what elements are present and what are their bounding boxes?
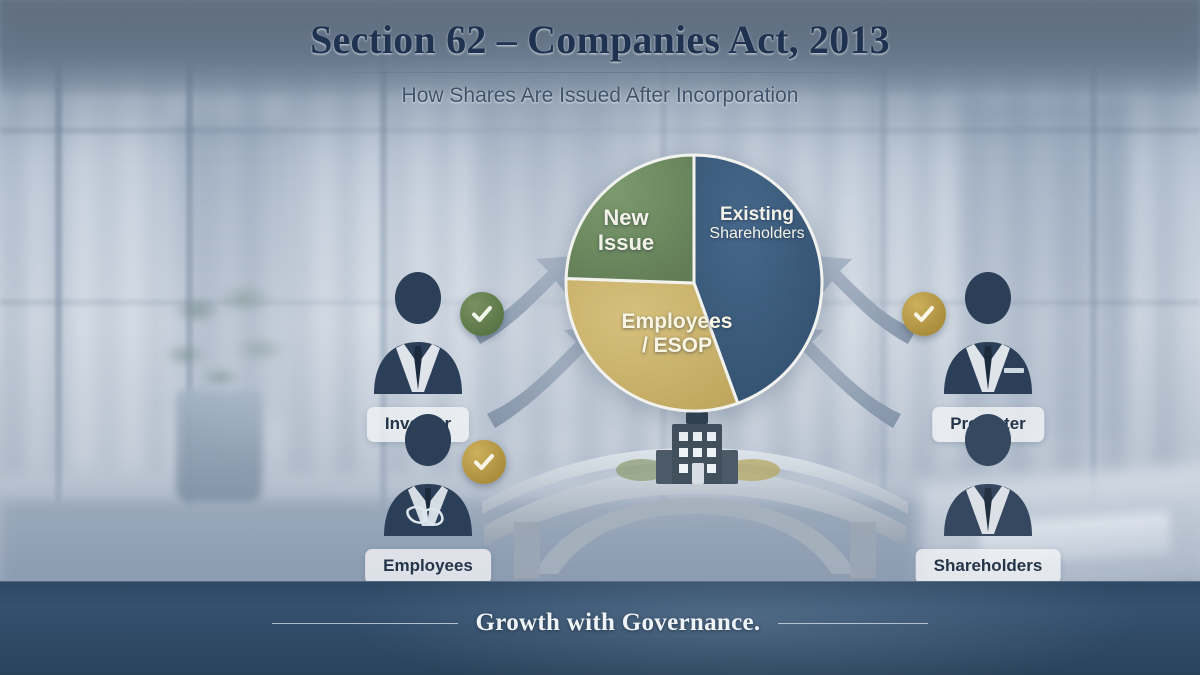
check-icon (470, 302, 494, 326)
promoter-check-badge (902, 292, 946, 336)
bridge-pier-right (850, 522, 876, 578)
shareholders-avatar-icon (928, 414, 1048, 536)
employees-label: Employees (365, 549, 491, 584)
employees-check-badge (462, 440, 506, 484)
investor-avatar-icon (358, 272, 478, 394)
bridge-arch (534, 498, 856, 574)
bridge-pier-left (514, 522, 540, 578)
actor-shareholders[interactable]: Shareholders (900, 414, 1076, 584)
footer-tagline: Growth with Governance. (476, 609, 761, 637)
promoter-avatar-icon (928, 272, 1048, 394)
actor-employees[interactable]: Employees (340, 414, 516, 584)
footer-rule-right (778, 623, 928, 624)
page-title: Section 62 – Companies Act, 2013 (0, 16, 1200, 63)
page-subtitle: How Shares Are Issued After Incorporatio… (0, 84, 1200, 108)
pie-svg (563, 152, 825, 414)
pie-slice-new-issue[interactable] (566, 155, 694, 283)
shareholders-label: Shareholders (916, 549, 1061, 584)
infographic-canvas: Section 62 – Companies Act, 2013 How Sha… (0, 0, 1200, 675)
header-block: Section 62 – Companies Act, 2013 How Sha… (0, 16, 1200, 108)
company-building-icon (656, 412, 738, 484)
investor-check-badge (460, 292, 504, 336)
footer-inner: Growth with Governance. (0, 609, 1200, 637)
bridge-and-building-graphic (480, 406, 910, 582)
title-divider (322, 72, 878, 73)
footer-band: Growth with Governance. (0, 581, 1200, 675)
share-allocation-pie-chart: New Issue Existing Shareholders Employee… (563, 152, 825, 414)
footer-rule-left (272, 623, 458, 624)
check-icon (912, 302, 936, 326)
check-icon (472, 450, 496, 474)
